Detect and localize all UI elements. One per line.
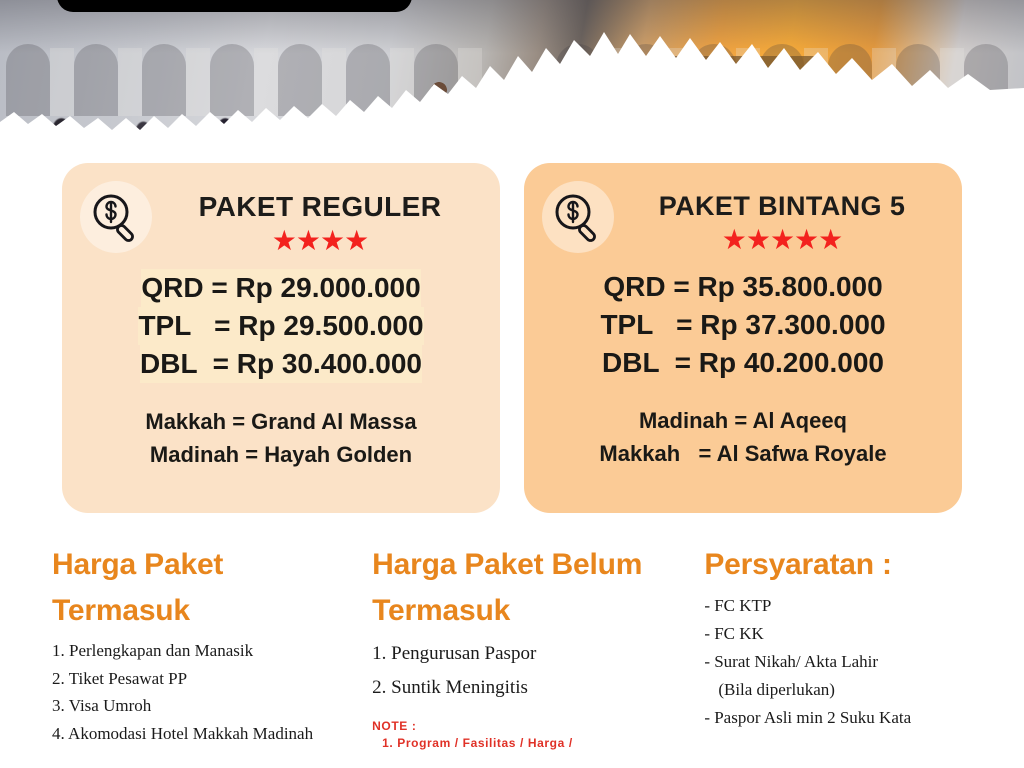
card-header: PAKET BINTANG 5 ★★★★★ [542,179,944,254]
price-row: DBL = Rp 40.200.000 [602,344,884,382]
package-card-bintang-5[interactable]: PAKET BINTANG 5 ★★★★★ QRD = Rp 35.800.00… [524,163,962,513]
dollar-magnifier-icon [542,181,614,253]
hotel-row: Madinah = Hayah Golden [150,438,412,471]
note-line: 1. Program / Fasilitas / Harga / [372,736,682,750]
column-harga-termasuk: Harga Paket Termasuk 1. Perlengkapan dan… [52,542,362,768]
hotel-row: Madinah = Al Aqeeq [639,404,847,437]
column-persyaratan: Persyaratan : - FC KTP - FC KK - Surat N… [682,542,978,768]
price-list: QRD = Rp 29.000.000 TPL = Rp 29.500.000 … [80,269,482,383]
price-list: QRD = Rp 35.800.000 TPL = Rp 37.300.000 … [542,268,944,382]
price-row: DBL = Rp 30.400.000 [140,345,422,383]
list-item: 3. Visa Umroh [52,692,362,720]
requirements-list: - FC KTP - FC KK - Surat Nikah/ Akta Lah… [704,592,978,732]
price-row: TPL = Rp 37.300.000 [600,306,885,344]
torn-paper-mask [0,30,1024,148]
header-photo-banner [0,0,1024,148]
hotel-list: Makkah = Grand Al Massa Madinah = Hayah … [80,405,482,471]
price-row: QRD = Rp 29.000.000 [141,269,420,307]
list-item: 4. Akomodasi Hotel Makkah Madinah [52,720,362,748]
list-item: - Paspor Asli min 2 Suku Kata [704,704,978,732]
column-title: Persyaratan : [704,542,978,588]
list-item: 1. Pengurusan Paspor [372,637,682,671]
star-rating: ★★★★★ [620,226,944,254]
package-cards: PAKET REGULER ★★★★ QRD = Rp 29.000.000 T… [0,163,1024,513]
list-item: 2. Tiket Pesawat PP [52,665,362,693]
included-list: 1. Perlengkapan dan Manasik 2. Tiket Pes… [52,637,362,747]
list-item: - FC KK [704,620,978,648]
package-title: PAKET BINTANG 5 [620,191,944,222]
price-row: QRD = Rp 35.800.000 [603,268,882,306]
list-item: 1. Perlengkapan dan Manasik [52,637,362,665]
hotel-row: Makkah = Grand Al Massa [145,405,416,438]
column-title: Harga Paket Belum Termasuk [372,542,682,633]
list-item: - FC KTP [704,592,978,620]
excluded-list: 1. Pengurusan Paspor 2. Suntik Meningiti… [372,637,682,705]
column-title: Harga Paket Termasuk [52,542,362,633]
star-rating: ★★★★ [158,227,482,255]
card-header: PAKET REGULER ★★★★ [80,179,482,255]
note-block: NOTE : 1. Program / Fasilitas / Harga / [372,719,682,750]
hotel-list: Madinah = Al Aqeeq Makkah = Al Safwa Roy… [542,404,944,470]
column-harga-belum-termasuk: Harga Paket Belum Termasuk 1. Pengurusan… [362,542,682,768]
list-item: 2. Suntik Meningitis [372,671,682,705]
note-label: NOTE : [372,719,682,733]
info-columns: Harga Paket Termasuk 1. Perlengkapan dan… [0,542,1024,768]
list-item: (Bila diperlukan) [704,676,978,704]
top-black-bar [57,0,412,12]
package-title: PAKET REGULER [158,191,482,223]
dollar-magnifier-icon [80,181,152,253]
package-card-reguler[interactable]: PAKET REGULER ★★★★ QRD = Rp 29.000.000 T… [62,163,500,513]
hotel-row: Makkah = Al Safwa Royale [599,437,886,470]
price-row: TPL = Rp 29.500.000 [138,307,423,345]
list-item: - Surat Nikah/ Akta Lahir [704,648,978,676]
